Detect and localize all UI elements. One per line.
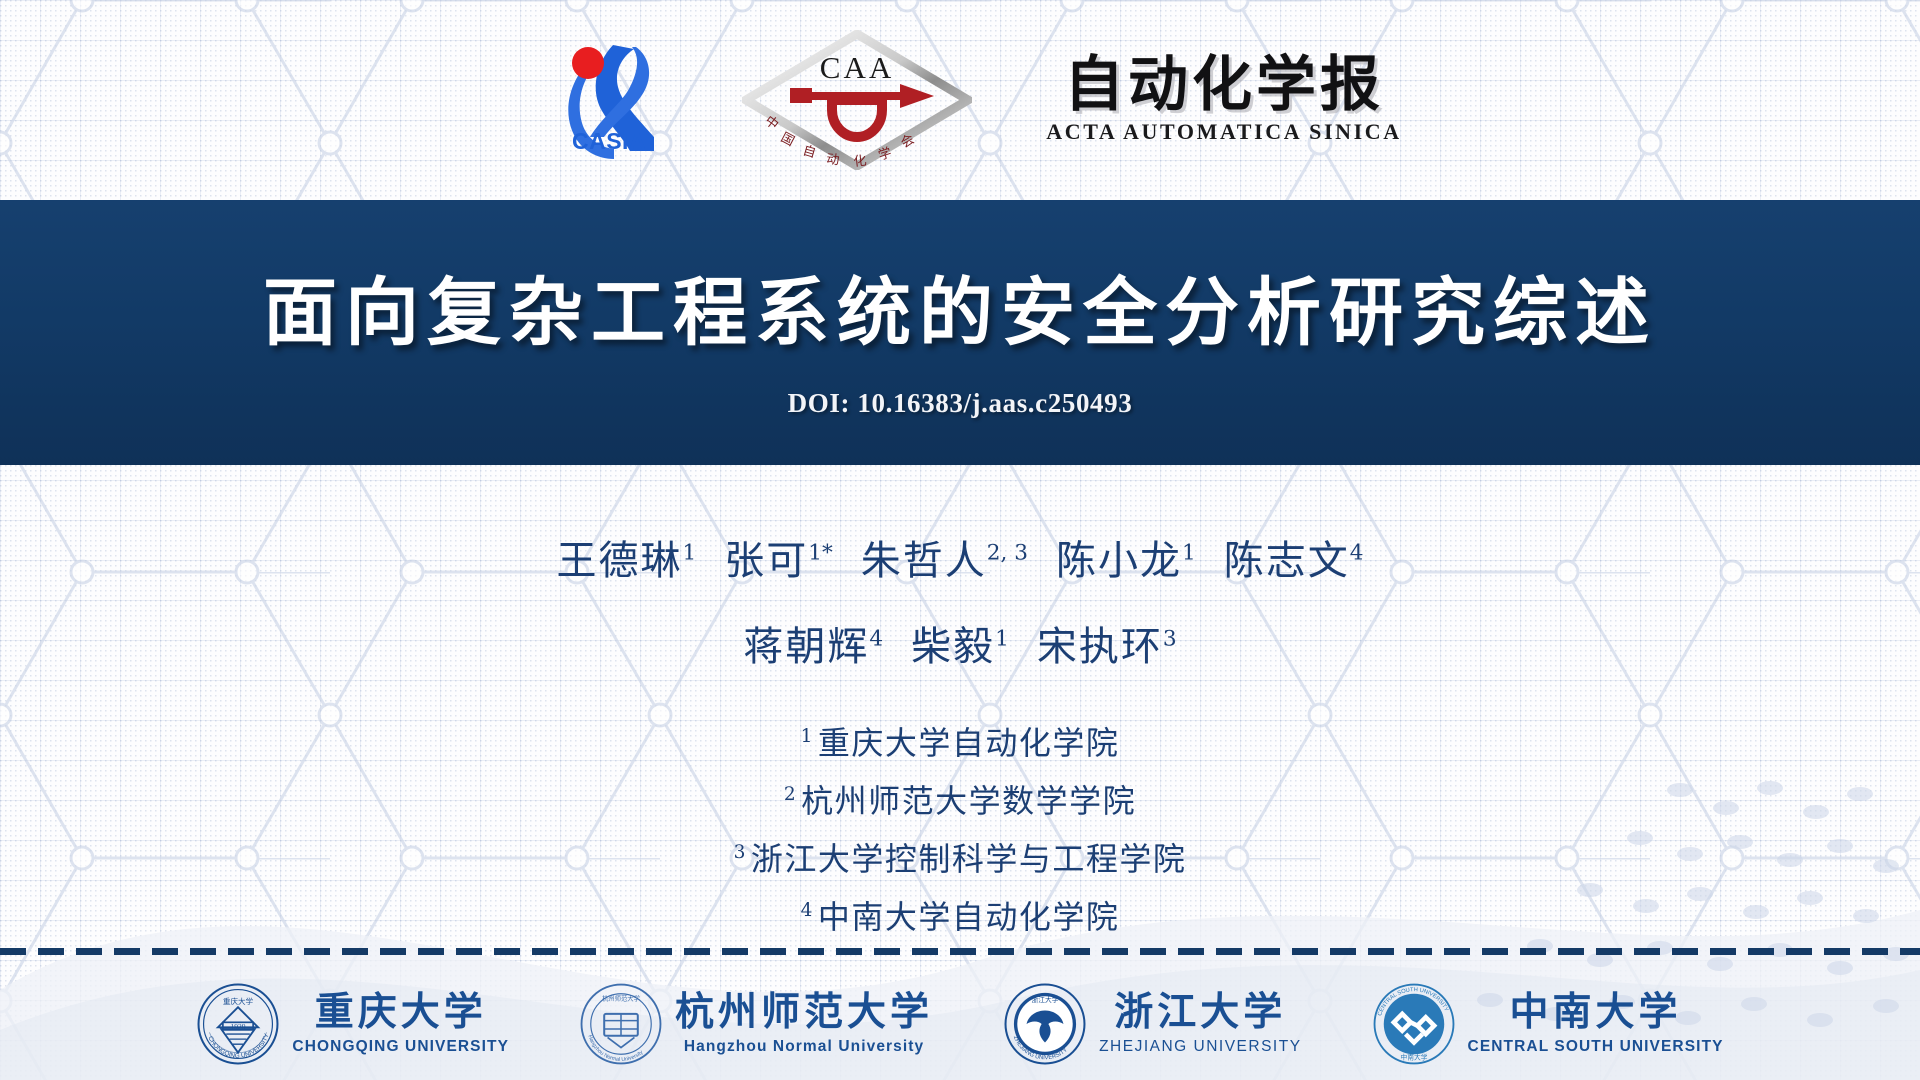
- university-name-en: ZHEJIANG UNIVERSITY: [1099, 1039, 1301, 1055]
- affiliation-text: 中南大学自动化学院: [818, 898, 1120, 936]
- university-logo-zhejiang: 浙江大学 1897 ZHEJIANG UNIVERSITY 浙江大学 ZHEJI…: [1003, 982, 1301, 1066]
- university-name-en: Hangzhou Normal University: [684, 1039, 924, 1055]
- author-item: 王德琳1: [556, 538, 696, 584]
- page-title: 面向复杂工程系统的安全分析研究综述: [263, 253, 1657, 360]
- affiliation-item: 4中南大学自动化学院: [801, 892, 1120, 938]
- authors-section: 王德琳1张可1*朱哲人2, 3陈小龙1陈志文4 蒋朝辉4柴毅1宋执环3 1重庆大…: [0, 465, 1920, 952]
- university-name-en: CENTRAL SOUTH UNIVERSITY: [1468, 1039, 1724, 1055]
- chongqing-seal-icon: 1929 重庆大学 CHONGQING UNIVERSITY: [196, 982, 280, 1066]
- author-item: 柴毅1: [911, 624, 1009, 670]
- author-item: 朱哲人2, 3: [861, 538, 1028, 584]
- svg-text:CAA: CAA: [820, 50, 894, 85]
- slide-root: CASIA CAA 中 国: [0, 0, 1920, 1080]
- affiliation-text: 重庆大学自动化学院: [818, 724, 1120, 762]
- affiliation-marker: 1: [801, 726, 814, 747]
- author-item: 宋执环3: [1037, 624, 1177, 670]
- affiliation-text: 杭州师范大学数学学院: [801, 782, 1136, 820]
- zhejiang-seal-icon: 浙江大学 1897 ZHEJIANG UNIVERSITY: [1003, 982, 1087, 1066]
- affiliation-marker: 2: [784, 784, 797, 805]
- header-logo-bar: CASIA CAA 中 国: [0, 0, 1920, 200]
- affiliation-item: 3浙江大学控制科学与工程学院: [734, 834, 1187, 880]
- affiliation-marker: 3: [734, 842, 747, 863]
- doi-text: DOI: 10.16383/j.aas.c250493: [788, 388, 1133, 419]
- svg-text:化: 化: [853, 154, 868, 170]
- casia-logo: CASIA: [518, 33, 668, 168]
- journal-logo: 自动化学报 ACTA AUTOMATICA SINICA: [1046, 55, 1401, 144]
- svg-text:重庆大学: 重庆大学: [223, 996, 254, 1006]
- author-item: 陈小龙1: [1056, 538, 1196, 584]
- affiliation-item: 2杭州师范大学数学学院: [784, 776, 1136, 822]
- svg-text:CASIA: CASIA: [572, 128, 646, 154]
- university-name-cn: 浙江大学: [1114, 993, 1286, 1032]
- journal-name-en: ACTA AUTOMATICA SINICA: [1046, 119, 1401, 145]
- university-name-en: CHONGQING UNIVERSITY: [292, 1039, 509, 1055]
- university-name-cn: 杭州师范大学: [675, 993, 933, 1032]
- journal-name-cn: 自动化学报: [1064, 55, 1384, 116]
- dashed-divider: [0, 948, 1920, 955]
- svg-text:浙江大学: 浙江大学: [1032, 995, 1059, 1004]
- affiliation-text: 浙江大学控制科学与工程学院: [751, 840, 1187, 878]
- university-logo-central-south: 中南大学 CENTRAL SOUTH UNIVERSITY 中南大学 CENTR…: [1372, 982, 1724, 1066]
- affiliation-marker: 4: [801, 900, 814, 921]
- svg-text:1929: 1929: [231, 1022, 246, 1031]
- central-south-seal-icon: 中南大学 CENTRAL SOUTH UNIVERSITY: [1372, 982, 1456, 1066]
- footer-logo-bar: 1929 重庆大学 CHONGQING UNIVERSITY 重庆大学 CHON…: [0, 968, 1920, 1080]
- author-item: 张可1*: [724, 538, 833, 584]
- affiliation-list: 1重庆大学自动化学院 2杭州师范大学数学学院 3浙江大学控制科学与工程学院 4中…: [734, 718, 1187, 938]
- chongqing-text: 重庆大学 CHONGQING UNIVERSITY: [292, 993, 509, 1055]
- author-item: 陈志文4: [1224, 538, 1364, 584]
- university-logo-chongqing: 1929 重庆大学 CHONGQING UNIVERSITY 重庆大学 CHON…: [196, 982, 509, 1066]
- zhejiang-text: 浙江大学 ZHEJIANG UNIVERSITY: [1099, 993, 1301, 1055]
- svg-text:1897: 1897: [1038, 1045, 1053, 1053]
- svg-text:杭州师范大学: 杭州师范大学: [602, 993, 640, 1002]
- svg-text:自: 自: [801, 143, 818, 161]
- caa-logo: CAA 中 国 自 动 化 学 会: [742, 30, 972, 170]
- affiliation-item: 1重庆大学自动化学院: [801, 718, 1120, 764]
- author-line-2: 蒋朝辉4柴毅1宋执环3: [729, 614, 1190, 672]
- university-name-cn: 中南大学: [1510, 993, 1682, 1032]
- author-line-1: 王德琳1张可1*朱哲人2, 3陈小龙1陈志文4: [542, 528, 1377, 586]
- hangzhou-seal-icon: 杭州师范大学 Hangzhou Normal University: [579, 982, 663, 1066]
- svg-text:动: 动: [826, 152, 841, 168]
- hangzhou-text: 杭州师范大学 Hangzhou Normal University: [675, 993, 933, 1055]
- svg-text:中南大学: 中南大学: [1400, 1052, 1427, 1061]
- university-logo-hangzhou: 杭州师范大学 Hangzhou Normal University 杭州师范大学…: [579, 982, 933, 1066]
- author-item: 蒋朝辉4: [743, 624, 883, 670]
- university-name-cn: 重庆大学: [315, 993, 487, 1032]
- central-south-text: 中南大学 CENTRAL SOUTH UNIVERSITY: [1468, 993, 1724, 1055]
- title-banner: 面向复杂工程系统的安全分析研究综述 DOI: 10.16383/j.aas.c2…: [0, 200, 1920, 465]
